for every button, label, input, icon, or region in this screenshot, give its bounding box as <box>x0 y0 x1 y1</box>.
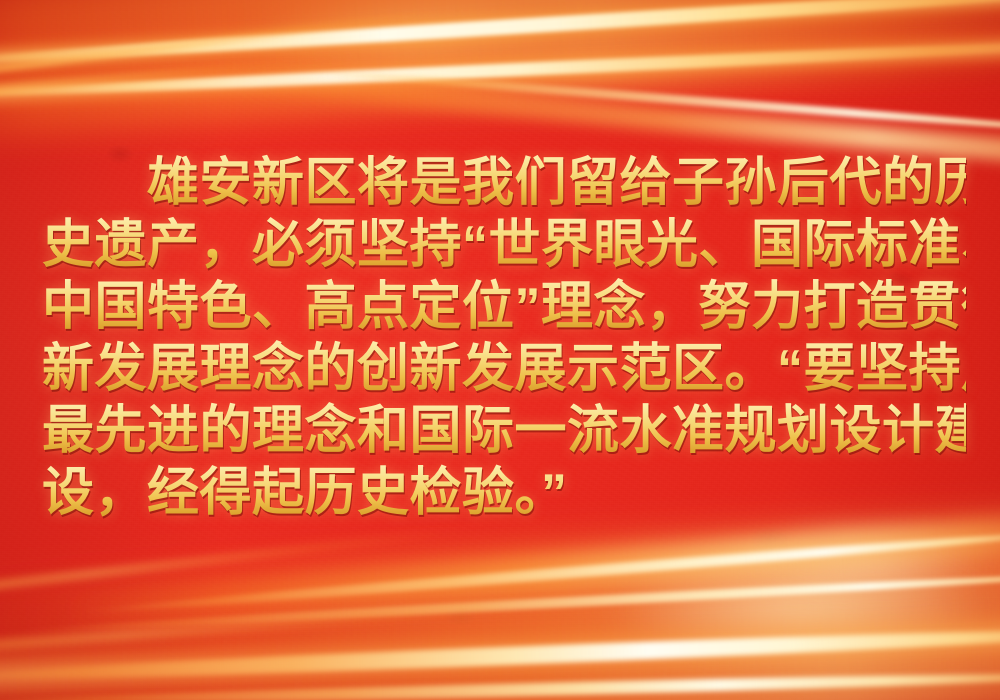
quote-line-6: 设，经得起历史检验。” <box>42 462 966 524</box>
quote-line-4: 新发展理念的创新发展示范区。“要坚持用 <box>42 338 966 400</box>
poster-canvas: 雄安新区将是我们留给子孙后代的历 史遗产，必须坚持“世界眼光、国际标准、 中国特… <box>0 0 1000 700</box>
quote-line-2: 史遗产，必须坚持“世界眼光、国际标准、 <box>42 214 966 276</box>
quote-line-1: 雄安新区将是我们留给子孙后代的历 <box>42 152 966 214</box>
quote-line-3: 中国特色、高点定位”理念，努力打造贯彻 <box>42 276 966 338</box>
quote-line-5: 最先进的理念和国际一流水准规划设计建 <box>42 400 966 462</box>
quote-text-block: 雄安新区将是我们留给子孙后代的历 史遗产，必须坚持“世界眼光、国际标准、 中国特… <box>42 152 966 524</box>
